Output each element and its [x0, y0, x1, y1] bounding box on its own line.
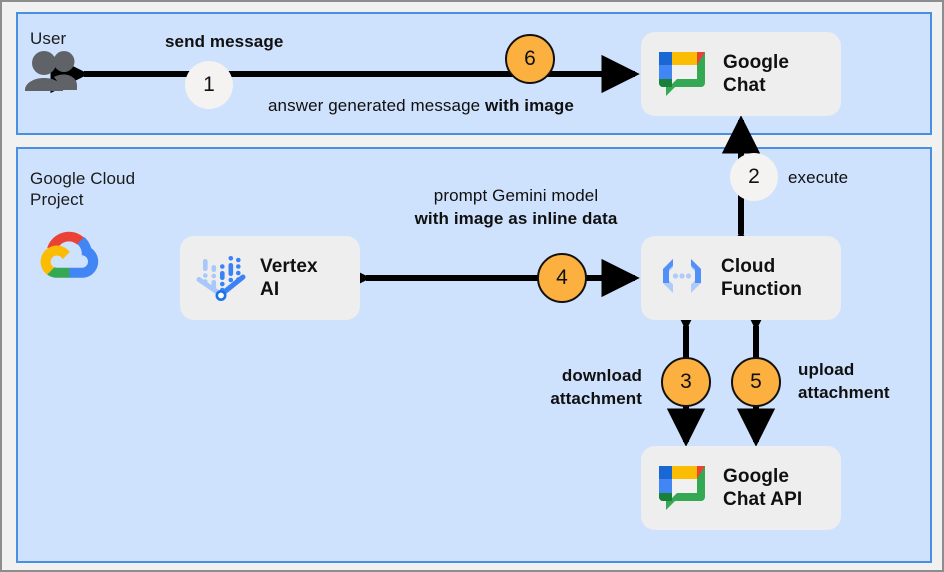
users-icon — [24, 50, 82, 97]
panel-user-title: User — [30, 28, 66, 49]
google-chat-icon — [655, 459, 709, 518]
card-google-chat-label: Google Chat — [723, 51, 789, 97]
step-badge-6: 6 — [505, 34, 555, 84]
label-answer-generated-message: answer generated message with image — [268, 94, 574, 117]
card-vertex-ai[interactable]: Vertex AI — [180, 236, 360, 320]
label-download-attachment: download attachment — [454, 364, 642, 410]
google-cloud-logo — [38, 224, 104, 285]
card-vertex-ai-label: Vertex AI — [260, 255, 318, 301]
card-google-chat[interactable]: Google Chat — [641, 32, 841, 116]
step-badge-5: 5 — [731, 357, 781, 407]
label-answer-generated-message-plain: answer generated message — [268, 96, 485, 115]
label-answer-generated-message-bold: with image — [485, 96, 574, 115]
diagram-canvas: User Google Cloud Project google chat --… — [0, 0, 944, 572]
step-badge-1: 1 — [185, 61, 233, 109]
card-google-chat-api-label: Google Chat API — [723, 465, 802, 511]
label-prompt-gemini-model: prompt Gemini modelwith image as inline … — [402, 184, 630, 230]
label-send-message: send message — [165, 30, 283, 53]
cloud-function-icon — [655, 249, 709, 308]
step-badge-2: 2 — [730, 153, 778, 201]
panel-google-cloud-project-title: Google Cloud Project — [30, 168, 135, 210]
google-chat-icon — [655, 45, 709, 104]
label-upload-attachment: upload attachment — [798, 358, 936, 404]
vertex-ai-icon — [194, 249, 248, 308]
step-badge-4: 4 — [537, 253, 587, 303]
card-cloud-function-label: Cloud Function — [721, 255, 802, 301]
card-google-chat-api[interactable]: Google Chat API — [641, 446, 841, 530]
card-cloud-function[interactable]: Cloud Function — [641, 236, 841, 320]
label-prompt-gemini-model-bold: with image as inline data — [415, 209, 618, 228]
label-execute: execute — [788, 166, 848, 189]
step-badge-3: 3 — [661, 357, 711, 407]
label-prompt-gemini-model-plain: prompt Gemini model — [434, 186, 598, 205]
